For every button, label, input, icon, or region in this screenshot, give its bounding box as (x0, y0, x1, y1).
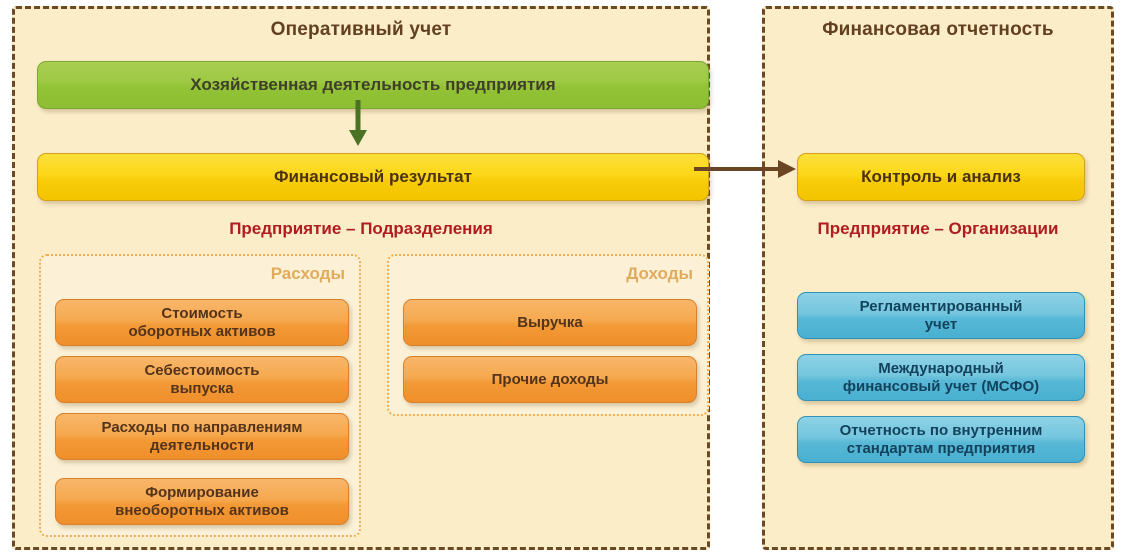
group-title-incomes: Доходы (626, 264, 693, 284)
box-ifrs-accounting[interactable]: Международныйфинансовый учет (МСФО) (797, 354, 1085, 401)
panel-title-financial: Финансовая отчетность (765, 19, 1111, 41)
panel-financial-reporting: Финансовая отчетность Контроль и анализ … (762, 6, 1114, 550)
panel-operational-accounting: Оперативный учет Хозяйственная деятельно… (12, 6, 710, 550)
group-incomes: Доходы Выручка Прочие доходы (387, 254, 709, 416)
box-current-assets-cost[interactable]: Стоимостьоборотных активов (55, 299, 349, 346)
box-revenue[interactable]: Выручка (403, 299, 697, 346)
panel-title-operational: Оперативный учет (15, 19, 707, 41)
box-production-cost[interactable]: Себестоимостьвыпуска (55, 356, 349, 403)
group-title-expenses: Расходы (271, 264, 345, 284)
box-internal-standards-reporting[interactable]: Отчетность по внутреннимстандартам предп… (797, 416, 1085, 463)
group-expenses: Расходы Стоимостьоборотных активов Себес… (39, 254, 361, 537)
box-activity-expenses[interactable]: Расходы по направлениямдеятельности (55, 413, 349, 460)
box-financial-result[interactable]: Финансовый результат (37, 153, 709, 201)
label-enterprise-organizations: Предприятие – Организации (765, 219, 1111, 239)
arrow-activity-to-result-icon (338, 100, 378, 158)
box-other-income[interactable]: Прочие доходы (403, 356, 697, 403)
box-noncurrent-assets-formation[interactable]: Формированиевнеоборотных активов (55, 478, 349, 525)
box-control-and-analysis[interactable]: Контроль и анализ (797, 153, 1085, 201)
arrow-result-to-control-icon (694, 154, 804, 184)
box-regulated-accounting[interactable]: Регламентированныйучет (797, 292, 1085, 339)
label-enterprise-divisions: Предприятие – Подразделения (15, 219, 707, 239)
